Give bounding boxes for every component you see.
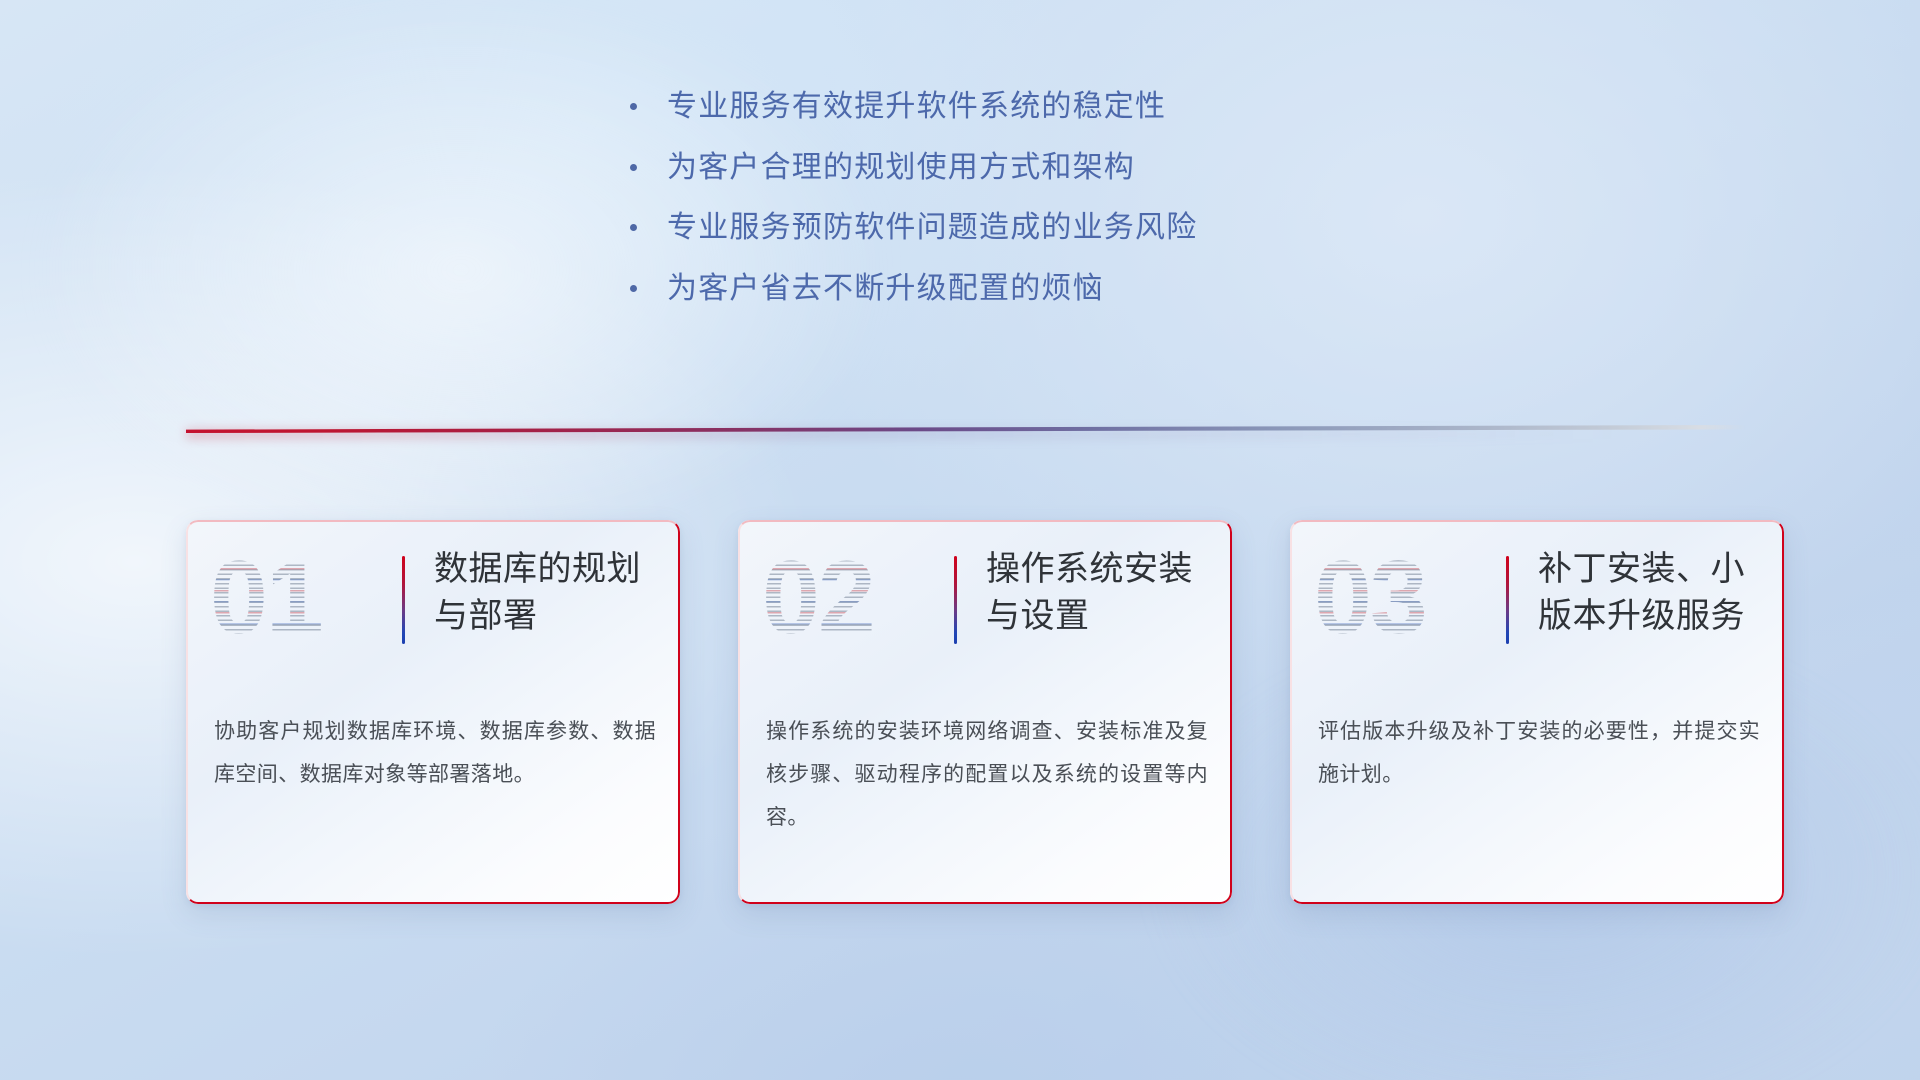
- bullet-dot-icon: [630, 164, 637, 171]
- slide-root: 专业服务有效提升软件系统的稳定性 为客户合理的规划使用方式和架构 专业服务预防软…: [0, 0, 1920, 1080]
- bullet-dot-icon: [630, 103, 637, 110]
- card-body-text: 操作系统的安装环境网络调查、安装标准及复核步骤、驱动程序的配置以及系统的设置等内…: [766, 710, 1208, 839]
- card-title: 操作系统安装与设置: [986, 546, 1216, 640]
- service-card-02[interactable]: 02 02 操作系统安装与设置 操作系统的安装环境网络调查、安装标准及复核步骤、…: [738, 520, 1232, 904]
- benefits-bullet-list: 专业服务有效提升软件系统的稳定性 为客户合理的规划使用方式和架构 专业服务预防软…: [0, 88, 1920, 307]
- bullet-text: 为客户省去不断升级配置的烦恼: [667, 270, 1104, 308]
- card-body-text: 评估版本升级及补丁安装的必要性，并提交实施计划。: [1318, 710, 1760, 796]
- card-header: 01 01 数据库的规划与部署: [186, 520, 680, 700]
- bullet-text: 专业服务有效提升软件系统的稳定性: [667, 88, 1166, 126]
- bullet-dot-icon: [630, 285, 637, 292]
- list-item: 专业服务预防软件问题造成的业务风险: [630, 209, 1290, 247]
- card-title: 数据库的规划与部署: [434, 546, 664, 640]
- bullet-text: 为客户合理的规划使用方式和架构: [667, 149, 1135, 187]
- section-divider: [186, 425, 1746, 441]
- card-body-text: 协助客户规划数据库环境、数据库参数、数据库空间、数据库对象等部署落地。: [214, 710, 656, 796]
- service-card-01[interactable]: 01 01 数据库的规划与部署 协助客户规划数据库环境、数据库参数、数据库空间、…: [186, 520, 680, 904]
- list-item: 专业服务有效提升软件系统的稳定性: [630, 88, 1290, 126]
- service-card-03[interactable]: 03 03 补丁安装、小版本升级服务 评估版本升级及补丁安装的必要性，并提交实施…: [1290, 520, 1784, 904]
- service-card-group: 01 01 数据库的规划与部署 协助客户规划数据库环境、数据库参数、数据库空间、…: [0, 520, 1920, 940]
- bullet-dot-icon: [630, 224, 637, 231]
- list-item: 为客户合理的规划使用方式和架构: [630, 149, 1290, 187]
- card-title-separator: [402, 556, 405, 644]
- card-number-watermark: 01: [210, 546, 362, 654]
- list-item: 为客户省去不断升级配置的烦恼: [630, 270, 1290, 308]
- card-number-watermark: 03: [1314, 546, 1466, 654]
- card-title-separator: [1506, 556, 1509, 644]
- card-header: 03 03 补丁安装、小版本升级服务: [1290, 520, 1784, 700]
- card-number-watermark: 02: [762, 546, 914, 654]
- card-title-separator: [954, 556, 957, 644]
- card-header: 02 02 操作系统安装与设置: [738, 520, 1232, 700]
- card-title: 补丁安装、小版本升级服务: [1538, 546, 1768, 640]
- bullet-text: 专业服务预防软件问题造成的业务风险: [667, 209, 1197, 247]
